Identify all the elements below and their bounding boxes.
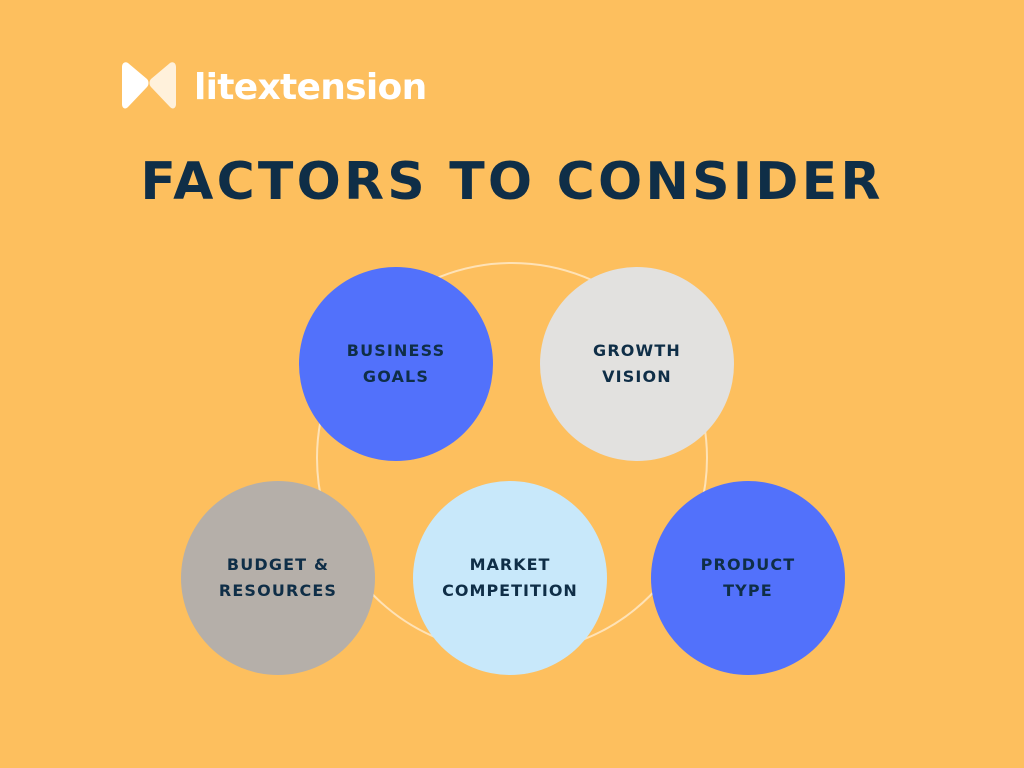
factor-circle-product-type[interactable]: PRODUCT TYPE bbox=[651, 481, 845, 675]
factor-circle-budget-resources[interactable]: BUDGET & RESOURCES bbox=[181, 481, 375, 675]
factor-circle-growth-vision[interactable]: GROWTH VISION bbox=[540, 267, 734, 461]
factor-circle-business-goals[interactable]: BUSINESS GOALS bbox=[299, 267, 493, 461]
factor-label-product-type: PRODUCT TYPE bbox=[693, 552, 804, 604]
factors-diagram: BUSINESS GOALS GROWTH VISION BUDGET & RE… bbox=[0, 0, 1024, 768]
factor-label-growth-vision: GROWTH VISION bbox=[585, 338, 689, 390]
slide-canvas: litextension FACTORS TO CONSIDER BUSINES… bbox=[0, 0, 1024, 768]
factor-label-budget-resources: BUDGET & RESOURCES bbox=[211, 552, 345, 604]
factor-label-business-goals: BUSINESS GOALS bbox=[339, 338, 454, 390]
factor-label-market-competition: MARKET COMPETITION bbox=[434, 552, 586, 604]
factor-circle-market-competition[interactable]: MARKET COMPETITION bbox=[413, 481, 607, 675]
